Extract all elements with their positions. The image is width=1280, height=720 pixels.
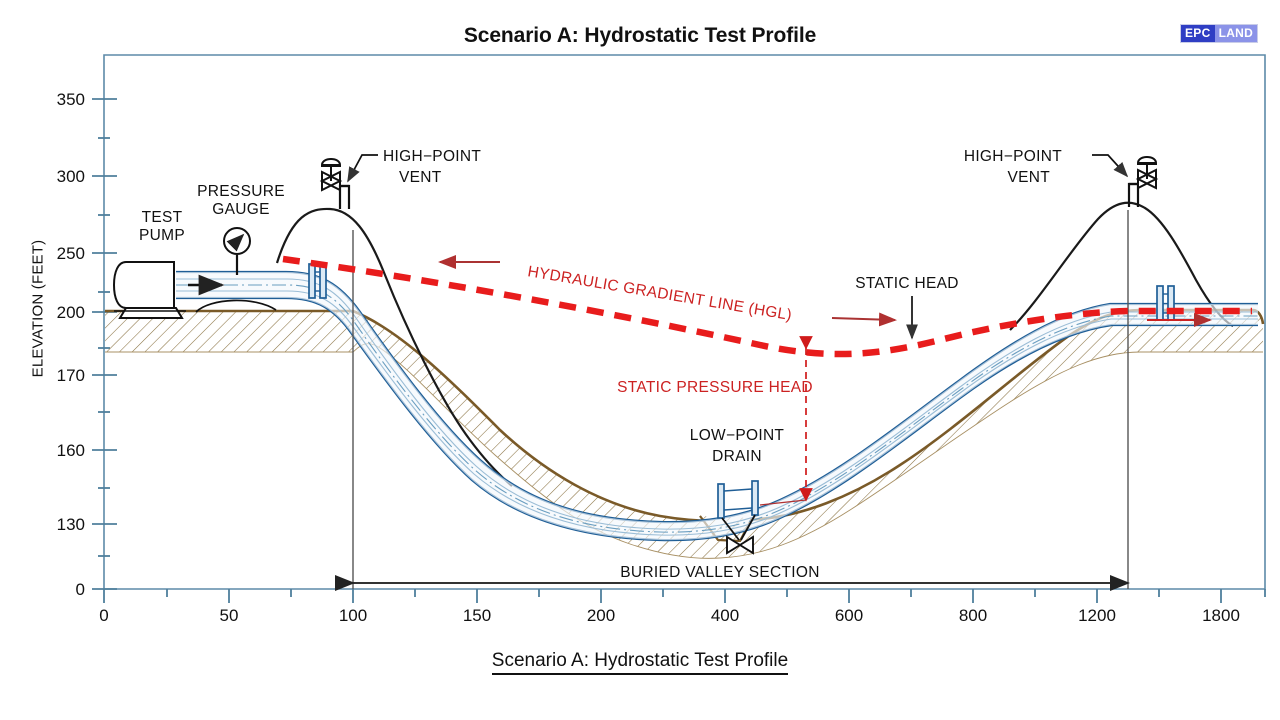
figure-caption: Scenario A: Hydrostatic Test Profile [0,650,1280,672]
x-axis-tick-labels: 0 50 100 150 200 400 600 800 1200 1800 [99,606,1240,625]
x-tick-label: 50 [220,606,239,625]
x-tick-label: 150 [463,606,491,625]
y-tick-label: 250 [57,244,85,263]
y-tick-label: 200 [57,303,85,322]
y-tick-label: 0 [76,580,85,599]
x-tick-label: 1800 [1202,606,1240,625]
y-tick-label: 160 [57,441,85,460]
x-tick-label: 100 [339,606,367,625]
static-head-callout: STATIC HEAD [855,275,958,338]
pressure-gauge-label-line1: PRESSURE [197,183,285,200]
pressure-gauge-label-line2: GAUGE [212,201,269,218]
y-tick-label: 350 [57,90,85,109]
x-axis-ticks [104,589,1265,603]
figure-caption-text: Scenario A: Hydrostatic Test Profile [492,650,788,675]
y-tick-label: 130 [57,515,85,534]
test-pump-label-line1: TEST [142,209,183,226]
hgl-label: HYDRAULIC GRADIENT LINE (HGL) [526,263,793,324]
x-tick-label: 1200 [1078,606,1116,625]
hgl-label-text: HYDRAULIC GRADIENT LINE (HGL) [526,263,793,324]
high-point-vent-left-label-line1: HIGH−POINT [383,148,481,165]
high-point-vent-right-label-line2: VENT [1007,169,1050,186]
high-point-vent-left-label-line2: VENT [399,169,442,186]
static-pressure-head-label: STATIC PRESSURE HEAD [617,379,813,396]
buried-valley-dimension: BURIED VALLEY SECTION [353,564,1128,583]
buried-valley-section-label: BURIED VALLEY SECTION [620,564,820,581]
profile-drawing: 350 300 250 200 170 160 130 0 [0,0,1280,720]
x-tick-label: 800 [959,606,987,625]
x-tick-label: 400 [711,606,739,625]
static-head-label: STATIC HEAD [855,275,958,292]
diagram-canvas: Scenario A: Hydrostatic Test Profile EPC… [0,0,1280,720]
test-pump: TEST PUMP [114,209,222,318]
low-point-drain-label-line2: DRAIN [712,448,762,465]
x-tick-label: 200 [587,606,615,625]
high-point-vent-right-label-line1: HIGH−POINT [964,148,1062,165]
y-tick-label: 300 [57,167,85,186]
x-tick-label: 600 [835,606,863,625]
low-point-drain-label-line1: LOW−POINT [690,427,785,444]
x-tick-label: 0 [99,606,108,625]
y-axis-tick-labels: 350 300 250 200 170 160 130 0 [57,90,85,599]
test-pump-label-line2: PUMP [139,227,185,244]
y-tick-label: 170 [57,366,85,385]
